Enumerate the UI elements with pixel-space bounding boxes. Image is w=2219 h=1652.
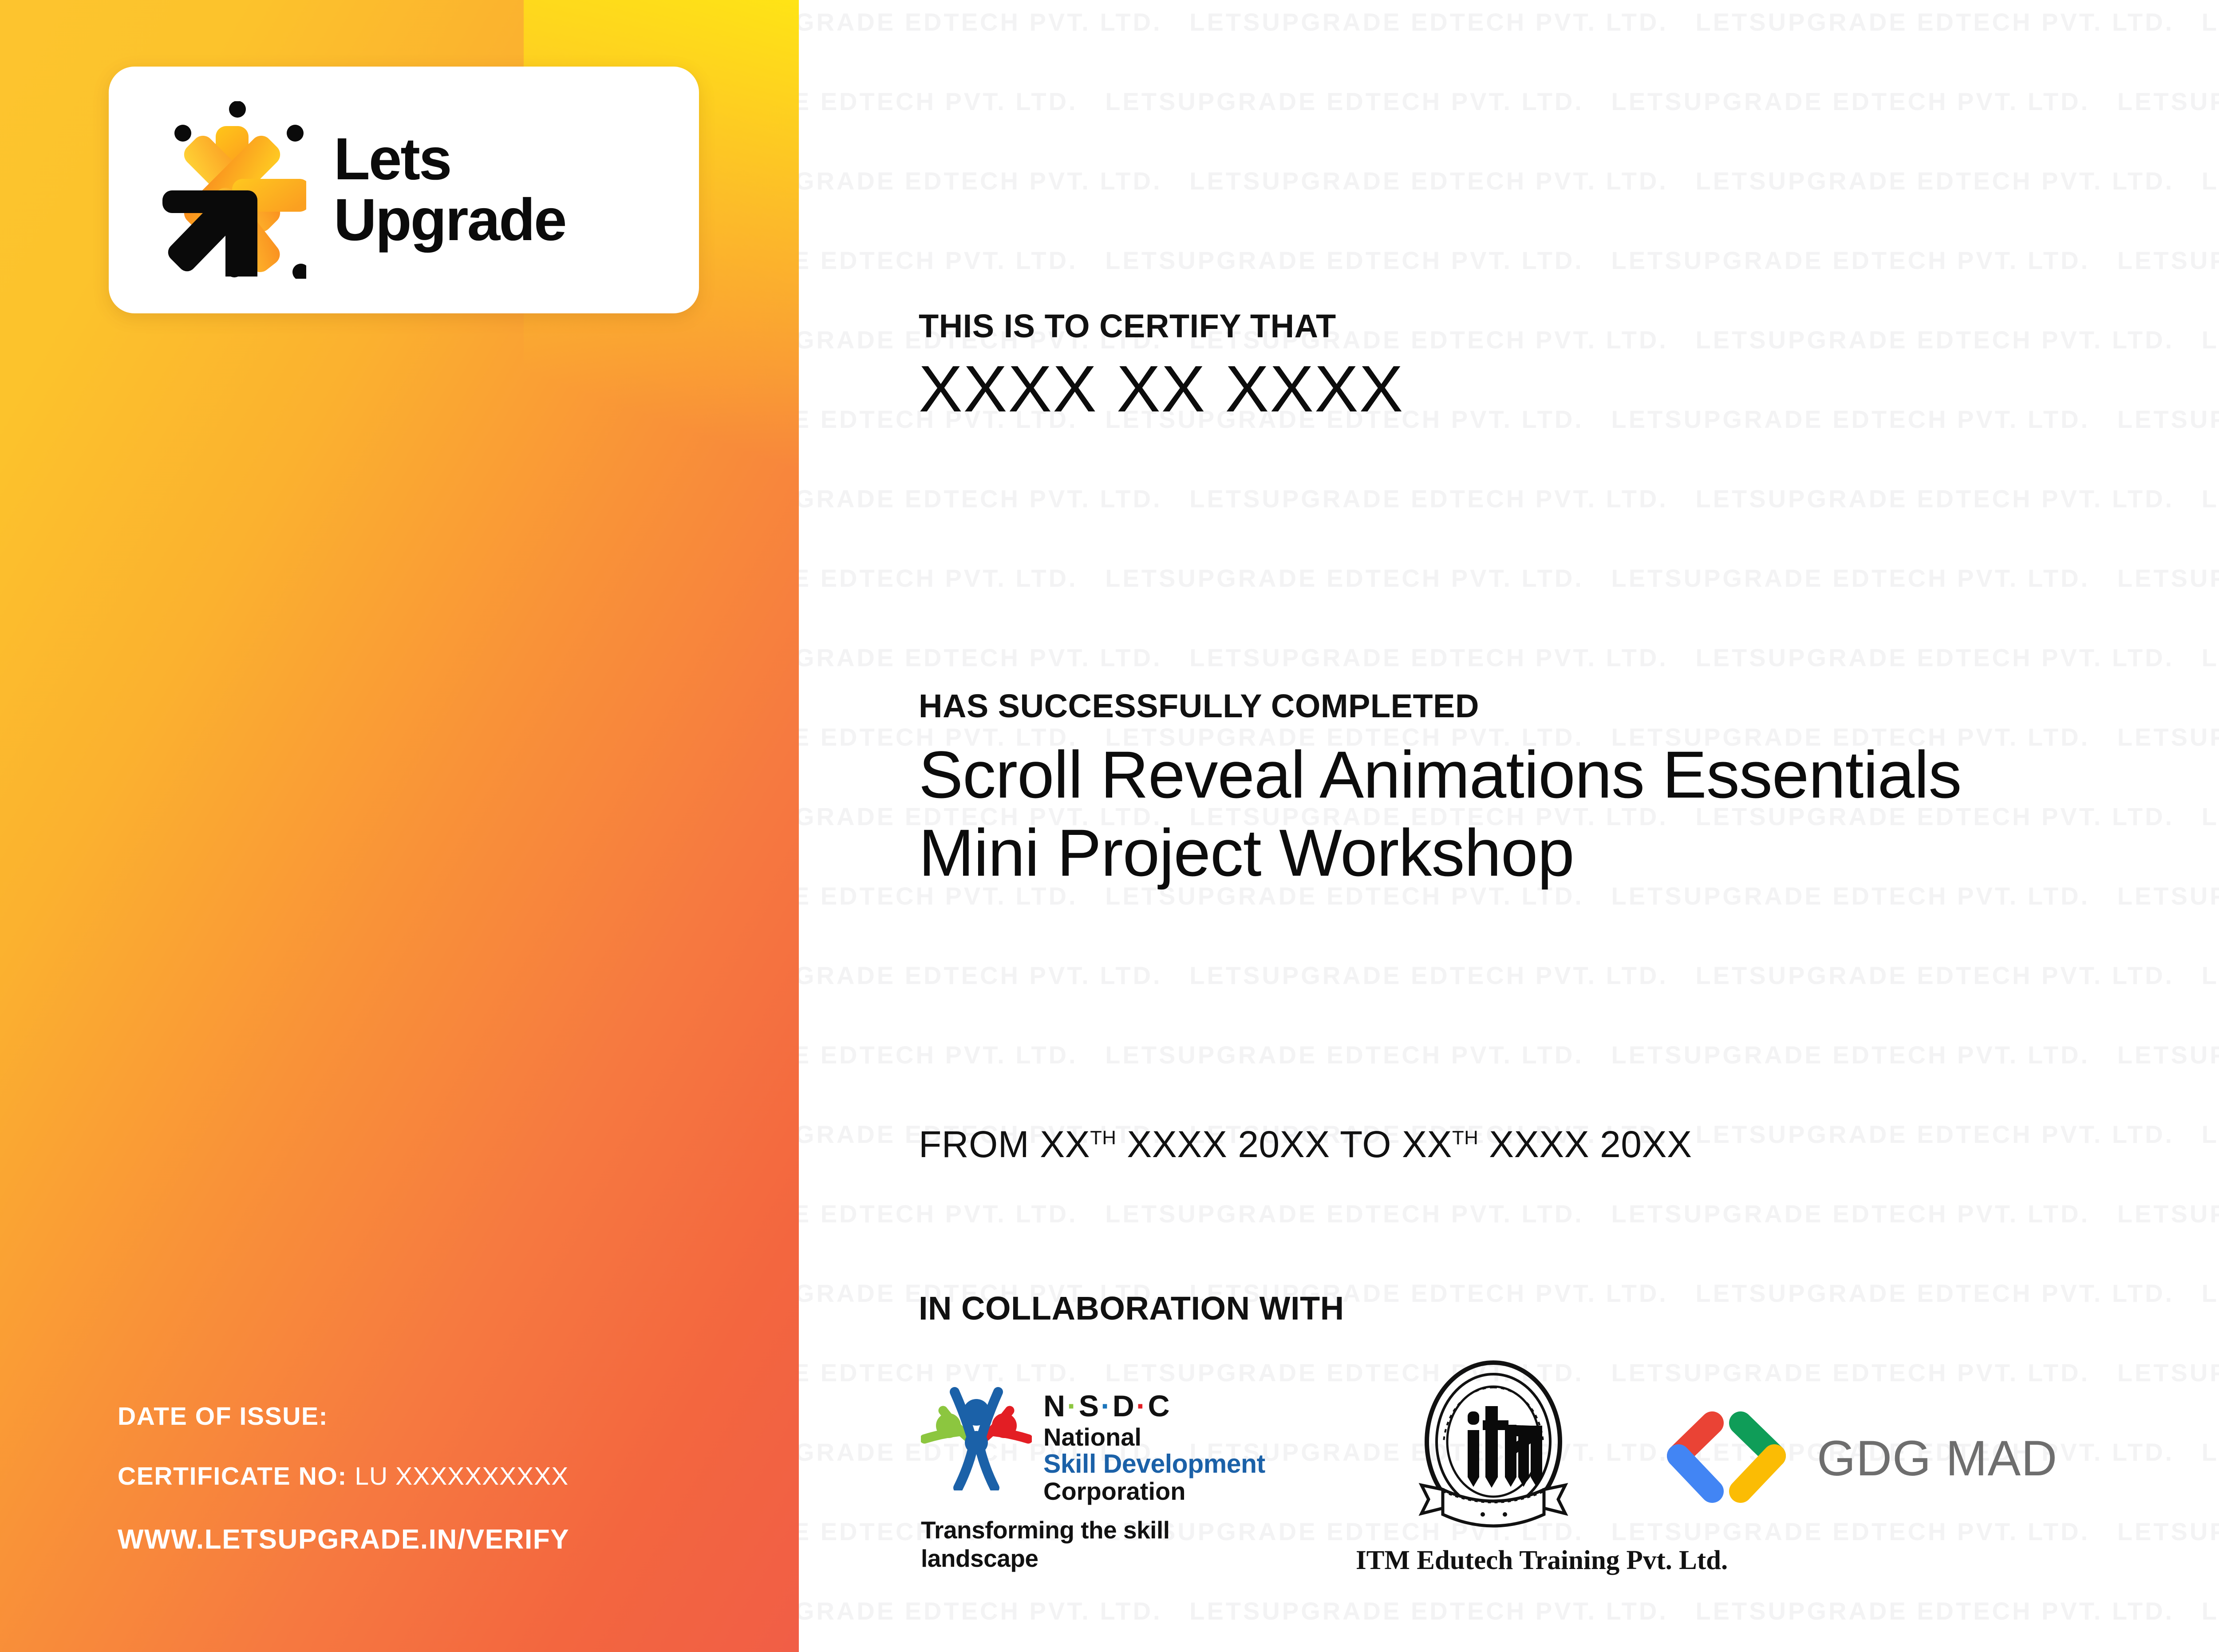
partner-gdg-mad: GDG MAD [1660,1411,2117,1505]
certificate-no-row: CERTIFICATE NO: LU XXXXXXXXXX [118,1464,739,1489]
gdg-mad-label: GDG MAD [1817,1430,2057,1487]
certificate-content: THIS IS TO CERTIFY THAT XXXX XX XXXX HAS… [919,0,2219,1652]
partner-nsdc: N·S·D·C National Skill Development Corpo… [921,1385,1271,1573]
brand-logo-card: Lets Upgrade [109,67,699,313]
completed-label: HAS SUCCESSFULLY COMPLETED [919,687,1479,725]
itm-company-name: ITM Edutech Training Pvt. Ltd. [1356,1545,1631,1576]
nsdc-line-corporation: Corporation [1043,1478,1265,1504]
certify-label: THIS IS TO CERTIFY THAT [919,307,1336,345]
date-ordinal-to: TH [1452,1127,1478,1149]
brand-wordmark: Lets Upgrade [334,129,566,250]
nsdc-abbreviation: N·S·D·C [1043,1391,1265,1421]
date-of-issue-row: DATE OF ISSUE: [118,1404,739,1429]
collaboration-label: IN COLLABORATION WITH [919,1289,1344,1327]
certificate-body-panel: LETSUPGRADE EDTECH PVT. LTD. LETSUPGRADE… [799,0,2219,1652]
course-title: Scroll Reveal Animations Essentials Mini… [919,736,1961,892]
date-ordinal-from: TH [1090,1127,1116,1149]
date-prefix: FROM XX [919,1123,1090,1165]
letsupgrade-logo-icon [160,101,306,279]
course-title-line1: Scroll Reveal Animations Essentials [919,736,1961,814]
verify-url[interactable]: WWW.LETSUPGRADE.IN/VERIFY [118,1524,739,1555]
date-of-issue-label: DATE OF ISSUE: [118,1402,328,1431]
certificate-canvas: Lets Upgrade DATE OF ISSUE: CERTIFICATE … [0,0,2219,1652]
nsdc-letter-n: N [1043,1389,1067,1423]
nsdc-dot-red: · [1136,1389,1148,1423]
certificate-meta-footer: DATE OF ISSUE: CERTIFICATE NO: LU XXXXXX… [118,1404,739,1555]
partner-itm: ITM Edutech Training Pvt. Ltd. [1356,1358,1631,1576]
nsdc-letter-c: C [1148,1389,1172,1423]
course-date-range: FROM XXTH XXXX 20XX TO XXTH XXXX 20XX [919,1123,1692,1166]
partner-logo-row: N·S·D·C National Skill Development Corpo… [919,1358,2219,1589]
date-suffix: XXXX 20XX [1478,1123,1692,1165]
nsdc-letter-s: S [1079,1389,1101,1423]
brand-wordmark-line1: Lets [334,129,566,190]
certificate-no-value: LU XXXXXXXXXX [355,1462,569,1490]
course-title-line2: Mini Project Workshop [919,814,1961,892]
nsdc-letter-d: D [1113,1389,1136,1423]
nsdc-figures-icon [921,1385,1032,1490]
nsdc-line-national: National [1043,1424,1265,1450]
nsdc-dot-blue: · [1101,1389,1113,1423]
nsdc-line-skill-development: Skill Development [1043,1450,1265,1478]
brand-wordmark-line2: Upgrade [334,190,566,251]
itm-crest-icon [1400,1358,1587,1536]
recipient-name: XXXX XX XXXX [919,352,1404,427]
certificate-no-label: CERTIFICATE NO: [118,1462,347,1490]
date-mid: XXXX 20XX TO XX [1116,1123,1452,1165]
gdg-chevron-icon [1660,1411,1793,1505]
nsdc-dot-green: · [1067,1389,1079,1423]
nsdc-tagline: Transforming the skill landscape [921,1516,1271,1573]
